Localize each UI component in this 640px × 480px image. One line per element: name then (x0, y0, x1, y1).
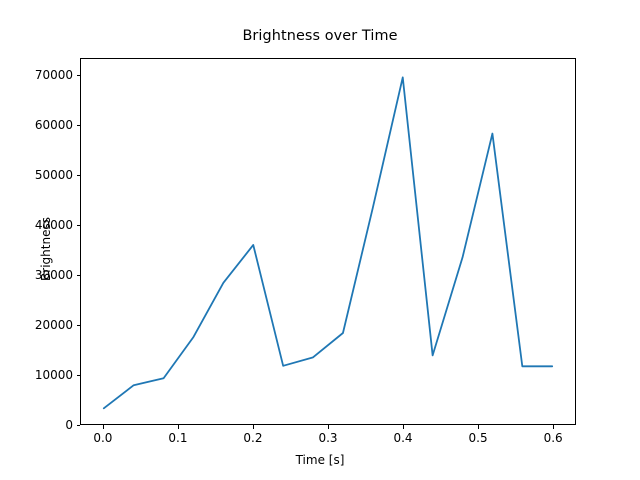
y-tick-label: 50000 (35, 168, 73, 182)
x-tick-label: 0.5 (469, 431, 488, 445)
y-tick-label: 0 (65, 418, 73, 432)
x-tick-label: 0.1 (168, 431, 187, 445)
y-tick-mark (77, 425, 81, 426)
matplotlib-figure: Brightness over Time 0100002000030000400… (0, 0, 640, 480)
x-tick-mark (178, 425, 179, 429)
x-tick-label: 0.4 (393, 431, 412, 445)
x-tick-mark (478, 425, 479, 429)
x-tick-label: 0.3 (318, 431, 337, 445)
x-tick-mark (328, 425, 329, 429)
chart-title: Brightness over Time (0, 28, 640, 44)
y-tick-label: 70000 (35, 68, 73, 82)
brightness-line (104, 77, 552, 408)
x-axis-label: Time [s] (0, 453, 640, 467)
x-tick-label: 0.0 (93, 431, 112, 445)
x-tick-label: 0.2 (243, 431, 262, 445)
y-tick-label: 20000 (35, 318, 73, 332)
x-tick-label: 0.6 (544, 431, 563, 445)
y-tick-label: 60000 (35, 118, 73, 132)
y-tick-label: 10000 (35, 368, 73, 382)
x-tick-mark (253, 425, 254, 429)
plot-area (80, 58, 576, 425)
x-tick-mark (103, 425, 104, 429)
line-series-svg (81, 59, 575, 424)
x-tick-mark (553, 425, 554, 429)
x-tick-mark (403, 425, 404, 429)
y-axis-label: Brightness (39, 189, 53, 309)
